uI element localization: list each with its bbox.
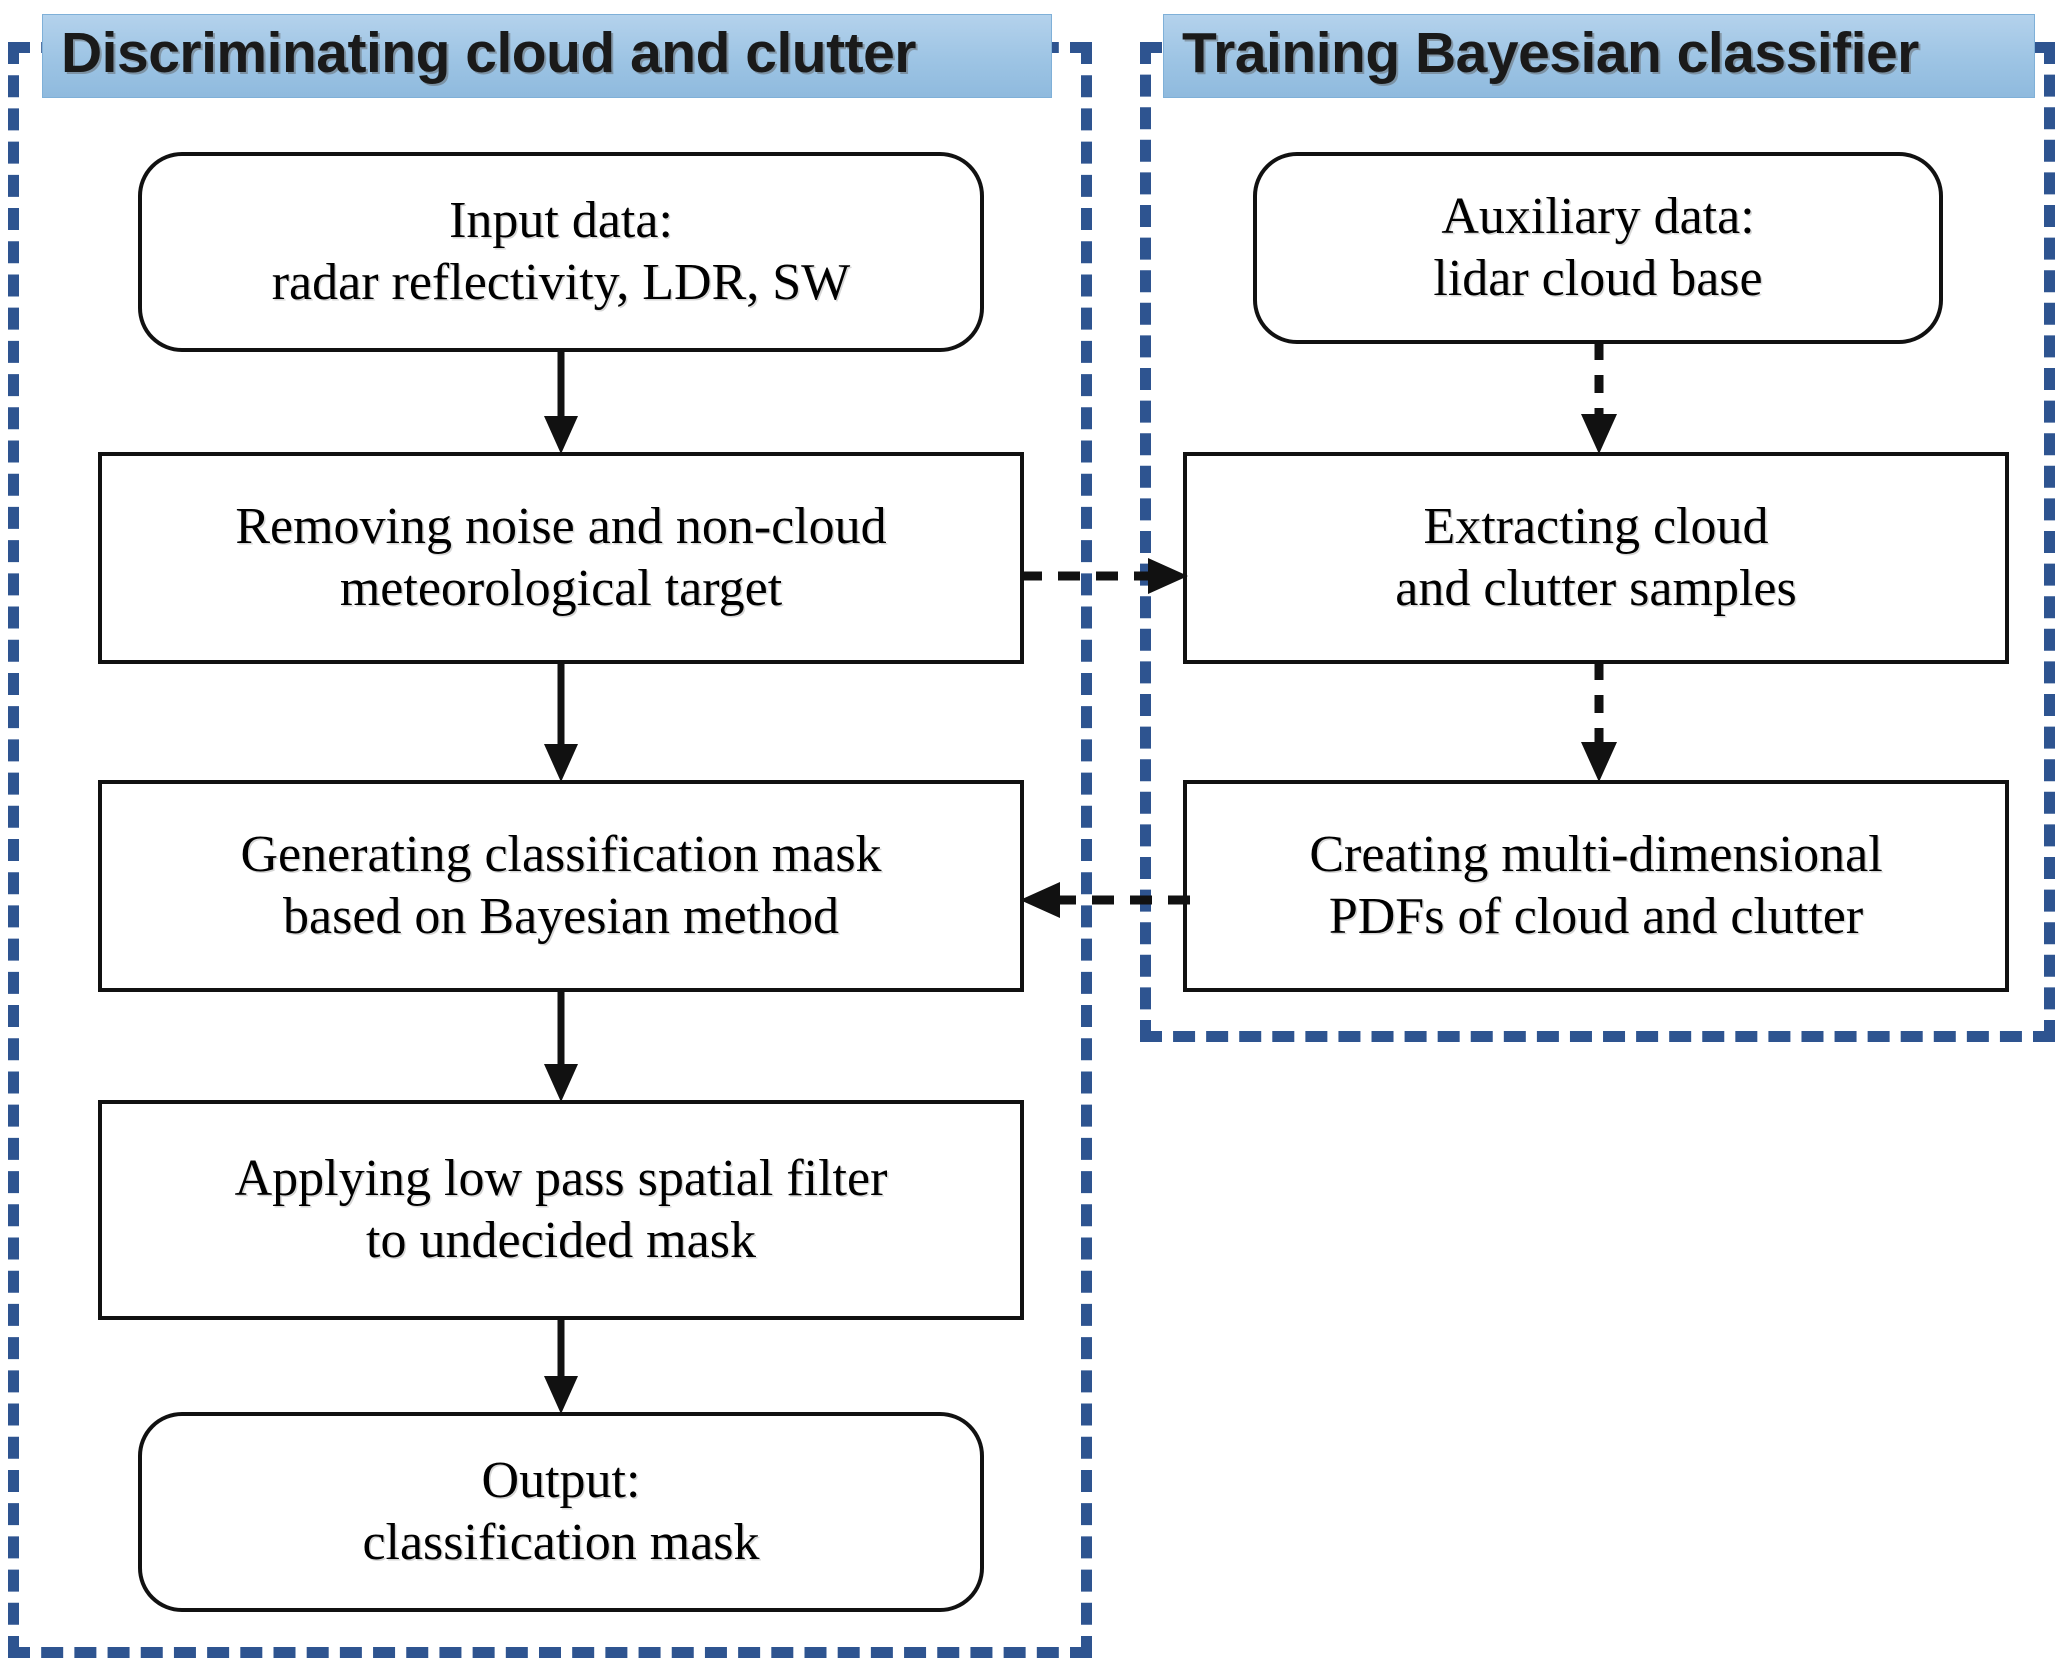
- arrow-input-to-remove-icon: [540, 350, 582, 456]
- node-input-data-line1: Input data:: [449, 190, 673, 252]
- node-auxiliary-data-line1: Auxiliary data:: [1441, 186, 1754, 248]
- arrow-remove-to-generate-icon: [540, 662, 582, 784]
- node-extracting-samples-line2: and clutter samples: [1395, 558, 1796, 620]
- node-generating-classification-mask[interactable]: Generating classification mask based on …: [98, 780, 1024, 992]
- node-removing-noise-line2: meteorological target: [340, 558, 782, 620]
- node-auxiliary-data-line2: lidar cloud base: [1433, 248, 1762, 310]
- node-generating-classification-mask-line2: based on Bayesian method: [283, 886, 839, 948]
- node-output-classification-mask-line2: classification mask: [362, 1512, 759, 1574]
- arrow-pdf-to-generate-icon: [1018, 880, 1190, 920]
- node-input-data-line2: radar reflectivity, LDR, SW: [272, 252, 851, 314]
- node-output-classification-mask-line1: Output:: [482, 1450, 641, 1512]
- arrow-auxiliary-to-extract-icon: [1578, 342, 1620, 456]
- node-extracting-samples-line1: Extracting cloud: [1423, 496, 1768, 558]
- section-title-training: Training Bayesian classifier: [1163, 14, 2035, 98]
- node-removing-noise[interactable]: Removing noise and non-cloud meteorologi…: [98, 452, 1024, 664]
- node-creating-pdfs-line2: PDFs of cloud and clutter: [1329, 886, 1863, 948]
- node-creating-pdfs[interactable]: Creating multi-dimensional PDFs of cloud…: [1183, 780, 2009, 992]
- node-generating-classification-mask-line1: Generating classification mask: [240, 824, 881, 886]
- node-removing-noise-line1: Removing noise and non-cloud: [235, 496, 886, 558]
- node-extracting-samples[interactable]: Extracting cloud and clutter samples: [1183, 452, 2009, 664]
- node-auxiliary-data[interactable]: Auxiliary data: lidar cloud base: [1253, 152, 1943, 344]
- arrow-generate-to-filter-icon: [540, 990, 582, 1104]
- arrow-extract-to-pdf-icon: [1578, 662, 1620, 784]
- arrow-filter-to-output-icon: [540, 1318, 582, 1416]
- arrow-remove-to-extract-icon: [1020, 556, 1190, 596]
- flowchart-canvas: Discriminating cloud and clutter Trainin…: [0, 0, 2067, 1675]
- node-output-classification-mask[interactable]: Output: classification mask: [138, 1412, 984, 1612]
- node-applying-low-pass-filter-line1: Applying low pass spatial filter: [235, 1148, 888, 1210]
- node-creating-pdfs-line1: Creating multi-dimensional: [1309, 824, 1882, 886]
- node-applying-low-pass-filter-line2: to undecided mask: [366, 1210, 756, 1272]
- node-applying-low-pass-filter[interactable]: Applying low pass spatial filter to unde…: [98, 1100, 1024, 1320]
- node-input-data[interactable]: Input data: radar reflectivity, LDR, SW: [138, 152, 984, 352]
- section-title-discriminating: Discriminating cloud and clutter: [42, 14, 1052, 98]
